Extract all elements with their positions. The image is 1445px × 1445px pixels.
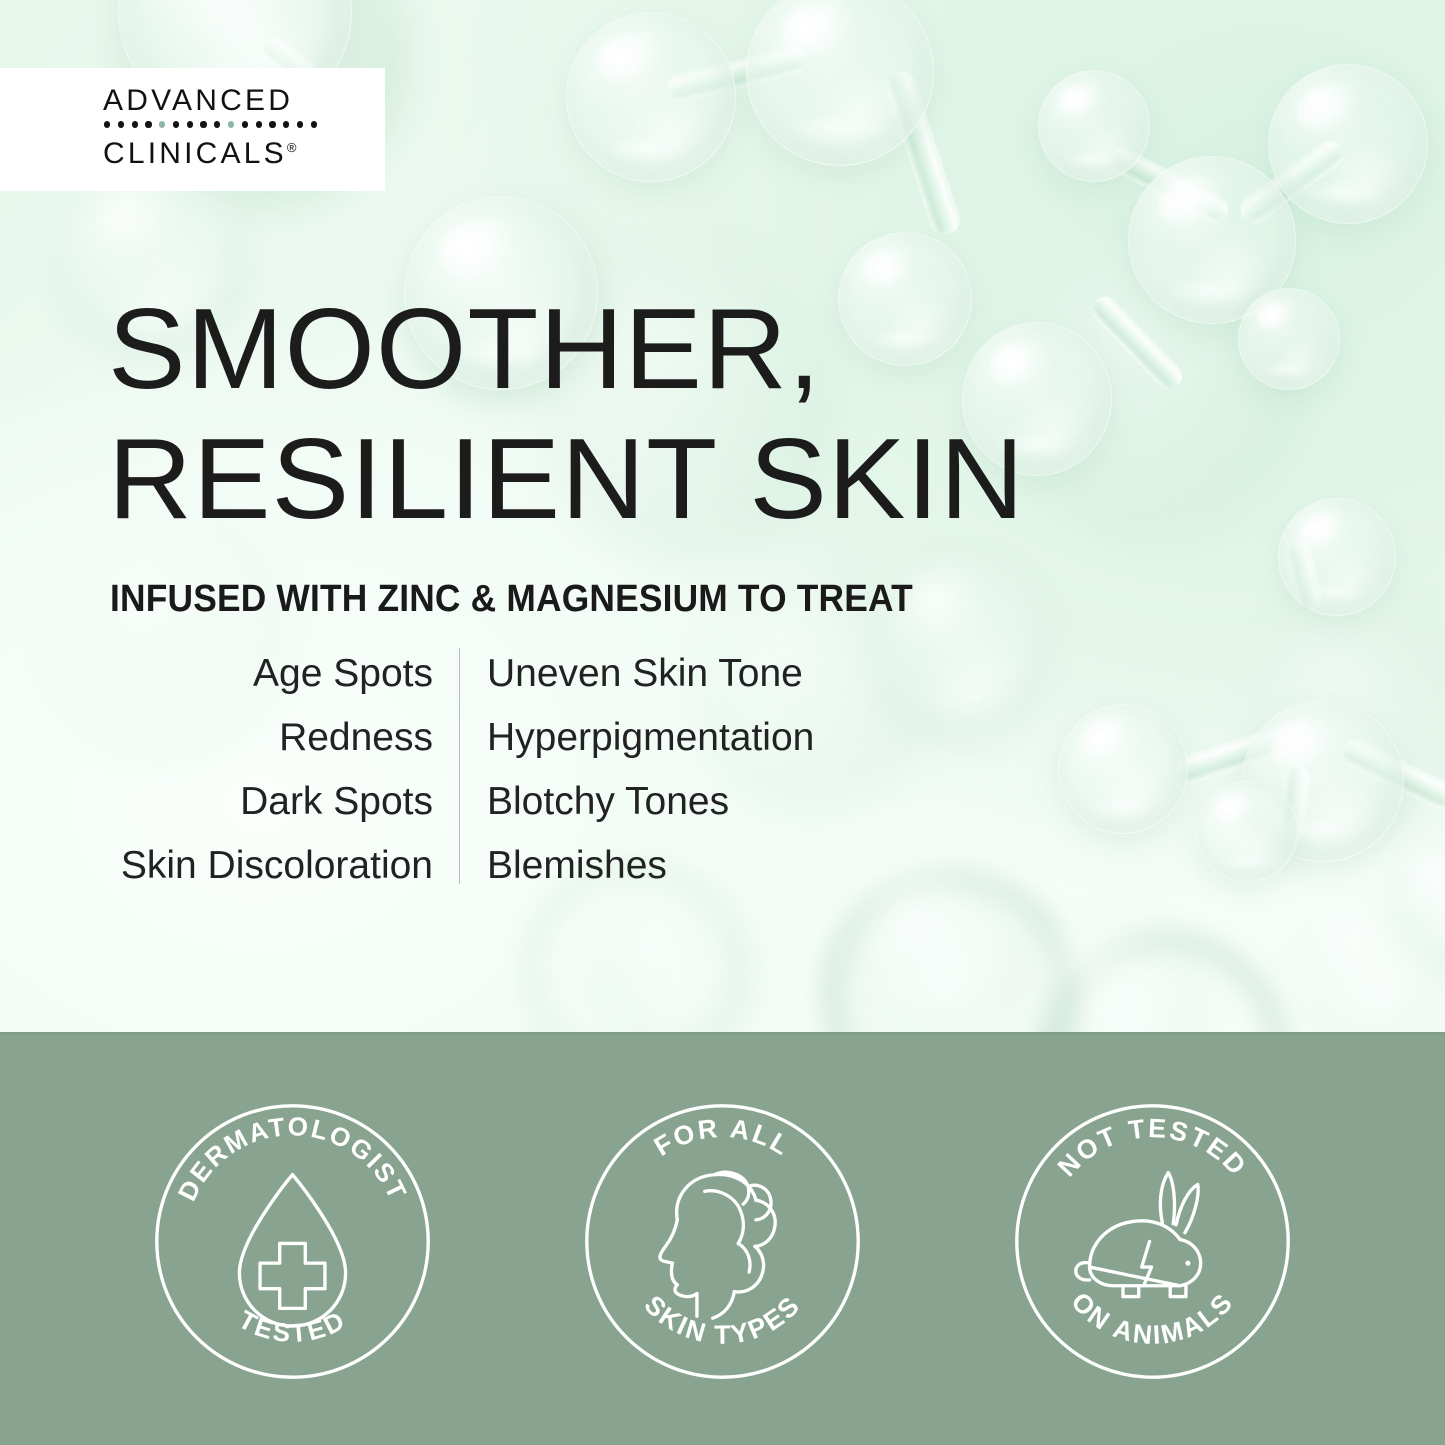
headline-line-1: SMOOTHER, xyxy=(108,285,1230,415)
list-item: Redness xyxy=(279,706,433,770)
logo-clinicals-text: CLINICALS xyxy=(103,137,287,170)
droplet-icon xyxy=(239,1175,345,1326)
benefit-list: Age Spots Redness Dark Spots Skin Discol… xyxy=(78,642,814,898)
svg-text:DERMATOLOGIST: DERMATOLOGIST xyxy=(172,1111,414,1206)
logo-dot xyxy=(104,121,110,127)
brand-logo: ADVANCED xyxy=(0,68,385,191)
badge-top-text: NOT TESTED xyxy=(1052,1113,1254,1182)
benefit-column-right: Uneven Skin Tone Hyperpigmentation Blotc… xyxy=(460,642,814,898)
badge-not-tested-on-animals: NOT TESTED ON ANIMALS xyxy=(1005,1094,1300,1389)
molecule-sphere xyxy=(850,862,1028,1032)
certification-band: DERMATOLOGIST TESTED xyxy=(0,1032,1445,1445)
logo-dot xyxy=(132,121,138,127)
page-title: SMOOTHER, RESILIENT SKIN xyxy=(108,285,1208,545)
badge-row: DERMATOLOGIST TESTED xyxy=(0,1032,1445,1445)
logo-dot xyxy=(173,121,179,127)
logo-dot xyxy=(311,121,317,127)
logo-dot-row xyxy=(104,119,365,130)
molecule-sphere xyxy=(1268,64,1428,224)
list-item: Skin Discoloration xyxy=(121,834,433,898)
list-item: Uneven Skin Tone xyxy=(487,642,803,706)
svg-text:TESTED: TESTED xyxy=(234,1304,352,1348)
logo-dot xyxy=(187,121,193,127)
svg-text:ON ANIMALS: ON ANIMALS xyxy=(1065,1286,1239,1350)
badge-top-text: DERMATOLOGIST xyxy=(172,1111,414,1206)
list-item: Blemishes xyxy=(487,834,667,898)
logo-dot xyxy=(256,121,262,127)
subheadline: INFUSED WITH ZINC & MAGNESIUM TO TREAT xyxy=(110,578,913,621)
logo-dot xyxy=(145,121,151,127)
benefit-column-left: Age Spots Redness Dark Spots Skin Discol… xyxy=(78,642,459,898)
logo-line-advanced: ADVANCED xyxy=(103,84,365,117)
molecule-sphere xyxy=(1238,288,1340,390)
list-item: Dark Spots xyxy=(240,770,433,834)
list-item: Hyperpigmentation xyxy=(487,706,814,770)
molecule-sphere xyxy=(1278,498,1396,616)
promo-graphic: ADVANCED xyxy=(0,0,1445,1445)
badge-dermatologist-tested: DERMATOLOGIST TESTED xyxy=(145,1094,440,1389)
badge-bottom-text: ON ANIMALS xyxy=(1065,1286,1239,1350)
logo-line-clinicals: CLINICALS® xyxy=(103,131,365,170)
rabbit-icon xyxy=(1076,1173,1201,1297)
badge-top-text: FOR ALL xyxy=(649,1113,796,1162)
cross-icon xyxy=(260,1243,325,1308)
logo-dot xyxy=(118,121,124,127)
logo-dot xyxy=(242,121,248,127)
hero-panel: ADVANCED xyxy=(0,0,1445,1032)
svg-text:SKIN TYPES: SKIN TYPES xyxy=(639,1289,807,1349)
logo-dot-accent xyxy=(228,121,234,127)
badge-for-all-skin-types: FOR ALL SKIN TYPES xyxy=(575,1094,870,1389)
molecule-sphere xyxy=(1300,896,1445,1032)
logo-dot-accent xyxy=(159,121,165,127)
svg-text:FOR ALL: FOR ALL xyxy=(649,1113,796,1162)
list-item: Age Spots xyxy=(253,642,433,706)
logo-dot xyxy=(297,121,303,127)
badge-bottom-text: SKIN TYPES xyxy=(639,1289,807,1349)
logo-dot xyxy=(283,121,289,127)
molecule-sphere xyxy=(1058,704,1188,834)
svg-text:NOT TESTED: NOT TESTED xyxy=(1052,1113,1254,1182)
logo-dot xyxy=(200,121,206,127)
molecule-sphere xyxy=(566,12,736,182)
woman-face-profile-icon xyxy=(660,1172,775,1318)
logo-dot xyxy=(269,121,275,127)
molecule-sphere xyxy=(1196,780,1298,882)
logo-dot xyxy=(214,121,220,127)
list-item: Blotchy Tones xyxy=(487,770,729,834)
molecule-sphere xyxy=(1038,70,1150,182)
badge-bottom-text: TESTED xyxy=(234,1304,352,1348)
registered-trademark-icon: ® xyxy=(287,140,297,155)
headline-line-2: RESILIENT SKIN xyxy=(108,415,1230,545)
